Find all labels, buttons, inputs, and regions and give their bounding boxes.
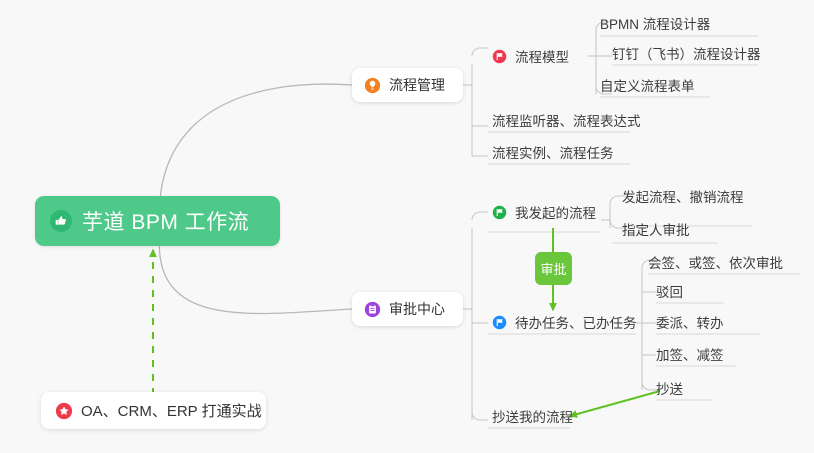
node-label-my-initiated-process: 我发起的流程 bbox=[515, 202, 596, 222]
root-node[interactable]: 芋道 BPM 工作流 bbox=[35, 196, 280, 246]
flag-blue-icon bbox=[492, 315, 507, 330]
node-process-model[interactable]: 流程模型 bbox=[492, 44, 569, 68]
star-icon bbox=[55, 402, 73, 420]
node-delegate-transfer[interactable]: 委派、转办 bbox=[656, 310, 724, 334]
node-assignee-approval[interactable]: 指定人审批 bbox=[622, 217, 690, 241]
node-label-dingtalk-feishu-designer: 钉钉（飞书）流程设计器 bbox=[612, 43, 761, 63]
node-label-instance-task: 流程实例、流程任务 bbox=[492, 142, 614, 162]
node-bpmn-designer[interactable]: BPMN 流程设计器 bbox=[600, 11, 710, 35]
node-label-countersign-approval: 会签、或签、依次审批 bbox=[648, 252, 783, 272]
bottom-node-label: OA、CRM、ERP 打通实战 bbox=[81, 400, 262, 421]
flag-green-icon bbox=[492, 205, 507, 220]
node-cc-my-process[interactable]: 抄送我的流程 bbox=[492, 404, 573, 428]
bottom-node-integration[interactable]: OA、CRM、ERP 打通实战 bbox=[41, 392, 266, 429]
node-label-bpmn-designer: BPMN 流程设计器 bbox=[600, 13, 710, 33]
node-start-cancel-process[interactable]: 发起流程、撤销流程 bbox=[622, 184, 744, 208]
node-label-add-remove-sign: 加签、减签 bbox=[656, 344, 724, 364]
approval-annotation-label: 审批 bbox=[540, 259, 566, 278]
node-label-cc-my-process: 抄送我的流程 bbox=[492, 406, 573, 426]
node-label-start-cancel-process: 发起流程、撤销流程 bbox=[622, 186, 744, 206]
node-label-custom-process-form: 自定义流程表单 bbox=[600, 75, 695, 95]
node-countersign-approval[interactable]: 会签、或签、依次审批 bbox=[648, 250, 783, 274]
lightbulb-icon bbox=[364, 77, 381, 94]
flag-red-icon bbox=[492, 49, 507, 64]
node-label-listener-expression: 流程监听器、流程表达式 bbox=[492, 110, 641, 130]
node-add-remove-sign[interactable]: 加签、减签 bbox=[656, 342, 724, 366]
node-dingtalk-feishu-designer[interactable]: 钉钉（飞书）流程设计器 bbox=[612, 41, 761, 65]
node-listener-expression[interactable]: 流程监听器、流程表达式 bbox=[492, 108, 641, 132]
node-label-todo-done-tasks: 待办任务、已办任务 bbox=[515, 312, 637, 332]
branch-label-approval-center: 审批中心 bbox=[389, 299, 445, 319]
mindmap-canvas: 芋道 BPM 工作流 流程管理 流程模型 BPMN 流程设计器 钉钉（飞书）流 bbox=[0, 0, 814, 453]
branch-node-approval-center[interactable]: 审批中心 bbox=[352, 292, 463, 326]
node-label-delegate-transfer: 委派、转办 bbox=[656, 312, 724, 332]
clipboard-icon bbox=[364, 301, 381, 318]
node-my-initiated-process[interactable]: 我发起的流程 bbox=[492, 200, 596, 224]
node-label-process-model: 流程模型 bbox=[515, 46, 569, 66]
node-custom-process-form[interactable]: 自定义流程表单 bbox=[600, 73, 695, 97]
node-label-reject: 驳回 bbox=[656, 281, 683, 301]
node-label-cc: 抄送 bbox=[656, 378, 683, 398]
node-todo-done-tasks[interactable]: 待办任务、已办任务 bbox=[492, 310, 637, 334]
node-instance-task[interactable]: 流程实例、流程任务 bbox=[492, 140, 614, 164]
branch-node-process-management[interactable]: 流程管理 bbox=[352, 68, 463, 102]
branch-label-process-management: 流程管理 bbox=[389, 75, 445, 95]
thumbs-up-icon bbox=[49, 209, 73, 233]
root-label: 芋道 BPM 工作流 bbox=[82, 206, 249, 236]
node-reject[interactable]: 驳回 bbox=[656, 279, 683, 303]
node-cc[interactable]: 抄送 bbox=[656, 376, 683, 400]
node-label-assignee-approval: 指定人审批 bbox=[622, 219, 690, 239]
approval-annotation-badge: 审批 bbox=[535, 252, 572, 285]
